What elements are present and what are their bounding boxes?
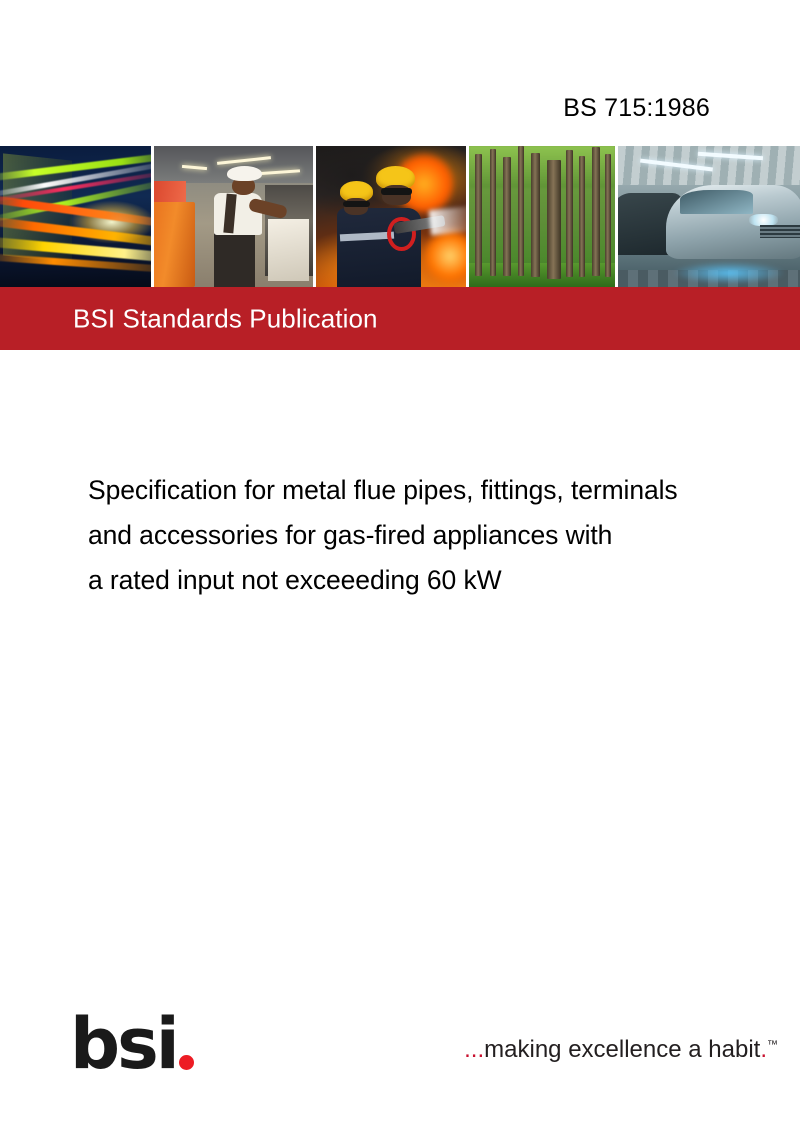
tree-trunk	[503, 157, 511, 275]
photo-panel-forest	[469, 146, 615, 287]
trademark-icon: ™	[767, 1039, 778, 1051]
worker-trousers	[214, 231, 255, 287]
tagline-ellipsis: ...	[464, 1036, 484, 1063]
bsi-logo-text: bsi	[70, 1014, 177, 1076]
cardboard-box	[268, 219, 309, 281]
firefighter-visor	[381, 188, 413, 195]
photo-panel-firefighters	[316, 146, 467, 287]
tree-trunk	[531, 153, 540, 277]
water-spray	[429, 206, 466, 236]
floor-light-glow	[673, 262, 786, 285]
tree-trunk	[592, 147, 600, 275]
car-grille	[760, 225, 800, 238]
tree-trunk	[579, 156, 585, 277]
banner-title: BSI Standards Publication	[73, 303, 378, 334]
photo-panel-night-traffic-light-trails	[0, 146, 151, 287]
firefighter-visor	[343, 201, 370, 207]
photo-panel-warehouse-worker	[154, 146, 313, 287]
tree-trunk	[475, 154, 482, 275]
page-title: Specification for metal flue pipes, fitt…	[88, 468, 800, 603]
tree-trunk	[490, 149, 496, 276]
orange-crate	[154, 202, 195, 287]
flame	[424, 228, 466, 284]
document-number: BS 715:1986	[0, 94, 710, 123]
car-windscreen	[680, 190, 753, 214]
worker-cap	[227, 166, 262, 182]
tree-trunk	[547, 160, 561, 278]
bsi-tagline: ...making excellence a habit.™	[464, 1036, 778, 1064]
bsi-logo: bsi	[70, 1002, 194, 1076]
bsi-standards-publication-banner: BSI Standards Publication	[0, 287, 800, 350]
title-line-1: Specification for metal flue pipes, fitt…	[88, 468, 800, 513]
photo-strip	[0, 146, 800, 287]
tree-trunk	[605, 154, 611, 277]
tree-trunk	[566, 150, 573, 277]
photo-panel-car-assembly-line	[618, 146, 800, 287]
tree-trunk	[518, 146, 524, 276]
bsi-logo-dot-icon	[179, 1055, 194, 1070]
tagline-text: making excellence a habit	[484, 1036, 760, 1063]
tagline-period: .	[760, 1036, 767, 1063]
title-line-2: and accessories for gas-fired appliances…	[88, 513, 800, 558]
title-line-3: a rated input not exceeeding 60 kW	[88, 558, 800, 603]
